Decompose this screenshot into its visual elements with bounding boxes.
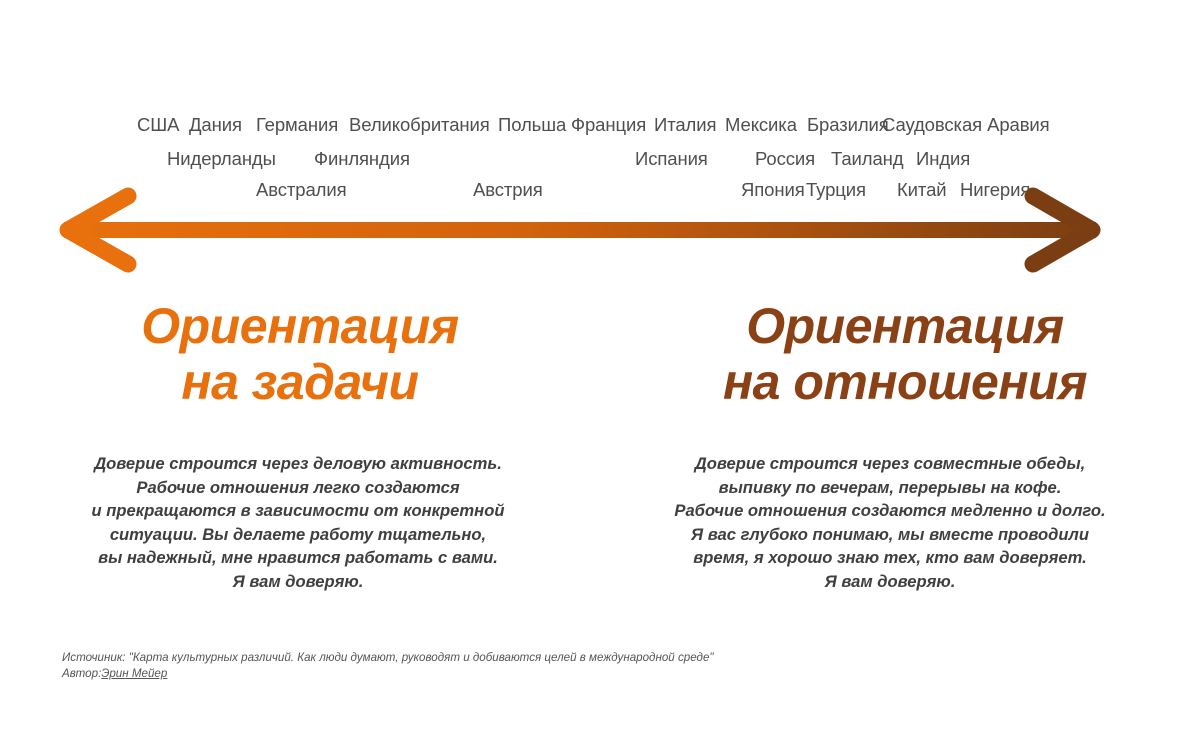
right-pole-description: Доверие строится через совместные обеды,…	[640, 452, 1140, 593]
description-line: Я вас глубоко понимаю, мы вместе проводи…	[640, 523, 1140, 547]
left-pole-headline: Ориентация на задачи	[65, 298, 535, 410]
country-label: Дания	[189, 112, 242, 138]
description-line: выпивку по вечерам, перерывы на кофе.	[640, 476, 1140, 500]
description-line: время, я хорошо знаю тех, кто вам доверя…	[640, 546, 1140, 570]
source-author-name: Эрин Мейер	[101, 667, 167, 680]
description-line: ситуации. Вы делаете работу тщательно,	[48, 523, 548, 547]
left-pole-headline-line1: Ориентация	[65, 298, 535, 354]
country-label: Индия	[916, 146, 970, 172]
left-pole-headline-line2: на задачи	[65, 354, 535, 410]
country-label: Финляндия	[314, 146, 410, 172]
country-label: Великобритания	[349, 112, 490, 138]
country-label: Испания	[635, 146, 708, 172]
description-line: Я вам доверяю.	[640, 570, 1140, 594]
country-label: Бразилия	[807, 112, 889, 138]
country-label: Саудовская Аравия	[882, 112, 1050, 138]
source-author-line: Автор:Эрин Мейер	[62, 666, 714, 682]
country-label: Германия	[256, 112, 338, 138]
description-line: Я вам доверяю.	[48, 570, 548, 594]
country-label: Россия	[755, 146, 815, 172]
country-label: США	[137, 112, 179, 138]
right-pole-headline: Ориентация на отношения	[670, 298, 1140, 410]
right-pole-headline-line1: Ориентация	[670, 298, 1140, 354]
country-label: Нидерланды	[167, 146, 276, 172]
country-label-cloud: СШАДанияГерманияВеликобританияПольшаФран…	[0, 0, 1199, 210]
description-line: вы надежный, мне нравится работать с вам…	[48, 546, 548, 570]
country-row-2: НидерландыФинляндияИспанияРоссияТаиландИ…	[0, 146, 1199, 174]
arrow-shaft	[64, 222, 1096, 238]
description-line: и прекращаются в зависимости от конкретн…	[48, 499, 548, 523]
slide-canvas: СШАДанияГерманияВеликобританияПольшаФран…	[0, 0, 1199, 756]
source-author-prefix: Автор:	[62, 667, 101, 680]
country-label: Польша	[498, 112, 566, 138]
description-line: Доверие строится через совместные обеды,	[640, 452, 1140, 476]
country-label: Италия	[654, 112, 716, 138]
country-label: Таиланд	[831, 146, 904, 172]
country-row-1: СШАДанияГерманияВеликобританияПольшаФран…	[0, 112, 1199, 140]
source-credit: Источиник: "Карта культурных различий. К…	[62, 650, 714, 681]
description-line: Рабочие отношения легко создаются	[48, 476, 548, 500]
description-line: Рабочие отношения создаются медленно и д…	[640, 499, 1140, 523]
source-title-line: Источиник: "Карта культурных различий. К…	[62, 650, 714, 666]
description-line: Доверие строится через деловую активност…	[48, 452, 548, 476]
right-pole-headline-line2: на отношения	[670, 354, 1140, 410]
orientation-axis-arrow	[40, 183, 1120, 278]
country-label: Франция	[571, 112, 646, 138]
left-pole-description: Доверие строится через деловую активност…	[48, 452, 548, 593]
country-label: Мексика	[725, 112, 797, 138]
